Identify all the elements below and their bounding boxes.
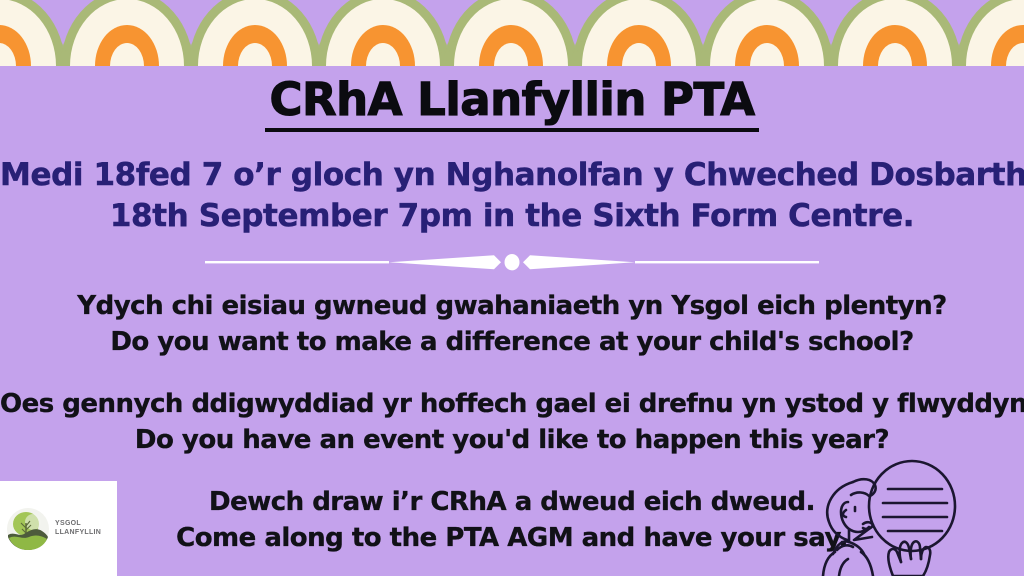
title-container: CRhA Llanfyllin PTA xyxy=(0,74,1024,132)
event-details: Medi 18fed 7 o’r gloch yn Nghanolfan y C… xyxy=(0,155,1024,237)
tree-hill-circle-icon xyxy=(6,507,50,551)
person-speaking-illustration xyxy=(815,458,1020,576)
paragraph-2-english: Do you have an event you'd like to happe… xyxy=(0,422,1024,458)
paragraph-2-welsh: Oes gennych ddigwyddiad yr hoffech gael … xyxy=(0,386,1024,422)
school-logo-card: YSGOL LLANFYLLIN xyxy=(0,481,117,576)
school-logo-text: YSGOL LLANFYLLIN xyxy=(55,520,101,537)
poster-canvas: CRhA Llanfyllin PTA Medi 18fed 7 o’r glo… xyxy=(0,0,1024,576)
paragraph-1-english: Do you want to make a difference at your… xyxy=(0,324,1024,360)
paragraph-1: Ydych chi eisiau gwneud gwahaniaeth yn Y… xyxy=(0,288,1024,360)
page-title: CRhA Llanfyllin PTA xyxy=(265,74,758,132)
ornamental-divider xyxy=(0,252,1024,272)
event-details-welsh: Medi 18fed 7 o’r gloch yn Nghanolfan y C… xyxy=(0,155,1024,196)
scalloped-arch-banner xyxy=(0,0,1024,76)
event-details-english: 18th September 7pm in the Sixth Form Cen… xyxy=(0,196,1024,237)
paragraph-1-welsh: Ydych chi eisiau gwneud gwahaniaeth yn Y… xyxy=(0,288,1024,324)
paragraph-2: Oes gennych ddigwyddiad yr hoffech gael … xyxy=(0,386,1024,458)
